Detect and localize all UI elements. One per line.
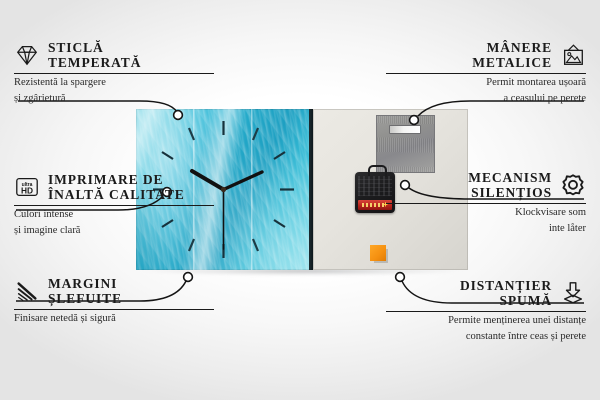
callout-subtitle-line-1: Permit montarea ușoară [386, 77, 586, 90]
callout-title-line-1: DISTANȚIER [460, 278, 552, 293]
callout-subtitle-line-2: constante între ceas și perete [386, 331, 586, 344]
callout-titles: MARGINI ȘLEFUITE [48, 276, 122, 306]
callout-divider [14, 73, 214, 74]
callout-divider [386, 203, 586, 204]
callout-titles: MÂNERE METALICE [472, 40, 552, 70]
callout-subtitle-line-1: Culori intense [14, 209, 214, 222]
callout-title-line-2: METALICE [472, 55, 552, 70]
callout-imprimare-calitate: ultra HD IMPRIMARE DE ÎNALTĂ CALITATE Cu… [14, 172, 214, 237]
callout-header: DISTANȚIER SPUMĂ [386, 278, 586, 308]
callout-subtitle-line-1: Permite menținerea unei distanțe [386, 315, 586, 328]
callout-title-line-2: ȘLEFUITE [48, 291, 122, 306]
polished-edges-icon [14, 278, 40, 304]
callout-header: MARGINI ȘLEFUITE [14, 276, 214, 306]
gear-icon [560, 172, 586, 198]
callout-header: STICLĂ TEMPERATĂ [14, 40, 214, 70]
callout-subtitle-line-2: și zgârietură [14, 93, 214, 106]
callout-subtitle-line-2: și imagine clară [14, 225, 214, 238]
callout-titles: IMPRIMARE DE ÎNALTĂ CALITATE [48, 172, 185, 202]
callout-titles: DISTANȚIER SPUMĂ [460, 278, 552, 308]
battery-label [362, 203, 384, 207]
ultra-hd-icon: ultra HD [14, 174, 40, 200]
picture-hanger-icon [560, 42, 586, 68]
foam-spacer-icon [560, 280, 586, 306]
callout-title-line-1: MÂNERE [487, 40, 552, 55]
infographic-stage: + [0, 0, 600, 400]
callout-header: ultra HD IMPRIMARE DE ÎNALTĂ CALITATE [14, 172, 214, 202]
callout-divider [14, 205, 214, 206]
callout-title-line-2: TEMPERATĂ [48, 55, 141, 70]
callout-titles: STICLĂ TEMPERATĂ [48, 40, 141, 70]
callout-title-line-2: ÎNALTĂ CALITATE [48, 187, 185, 202]
callout-title-line-1: MECANISM [468, 170, 552, 185]
callout-title-line-1: IMPRIMARE DE [48, 172, 185, 187]
callout-subtitle-line-2: inte låter [386, 223, 586, 236]
callout-header: MÂNERE METALICE [386, 40, 586, 70]
callout-margini-slefuite: MARGINI ȘLEFUITE Finisare netedă și sigu… [14, 276, 214, 326]
foam-spacer [370, 245, 386, 261]
callout-subtitle-line-1: Klockvisare som [386, 207, 586, 220]
hanger-slot [389, 125, 421, 134]
callout-manere-metalice: MÂNERE METALICE Permit montarea ușoară a… [386, 40, 586, 105]
callout-title-line-2: SPUMĂ [500, 293, 553, 308]
callout-divider [14, 309, 214, 310]
callout-subtitle-line-1: Rezistentă la spargere [14, 77, 214, 90]
callout-title-line-2: SILENȚIOS [471, 185, 552, 200]
metal-hanger-plate [376, 115, 435, 173]
callout-header: MECANISM SILENȚIOS [386, 170, 586, 200]
callout-distantier-spuma: DISTANȚIER SPUMĂ Permite menținerea unei… [386, 278, 586, 343]
callout-titles: MECANISM SILENȚIOS [468, 170, 552, 200]
callout-subtitle-line-1: Finisare netedă și sigură [14, 313, 214, 326]
callout-divider [386, 73, 586, 74]
ultra-hd-icon-bottom: HD [21, 186, 33, 196]
diamond-icon [14, 42, 40, 68]
callout-divider [386, 311, 586, 312]
callout-title-line-1: MARGINI [48, 276, 122, 291]
callout-sticla-temperata: STICLĂ TEMPERATĂ Rezistentă la spargere … [14, 40, 214, 105]
clock-center-cap [221, 187, 226, 192]
callout-subtitle-line-2: a ceasului pe perete [386, 93, 586, 106]
callout-mecanism-silentios: MECANISM SILENȚIOS Klockvisare som inte … [386, 170, 586, 235]
callout-title-line-1: STICLĂ [48, 40, 141, 55]
